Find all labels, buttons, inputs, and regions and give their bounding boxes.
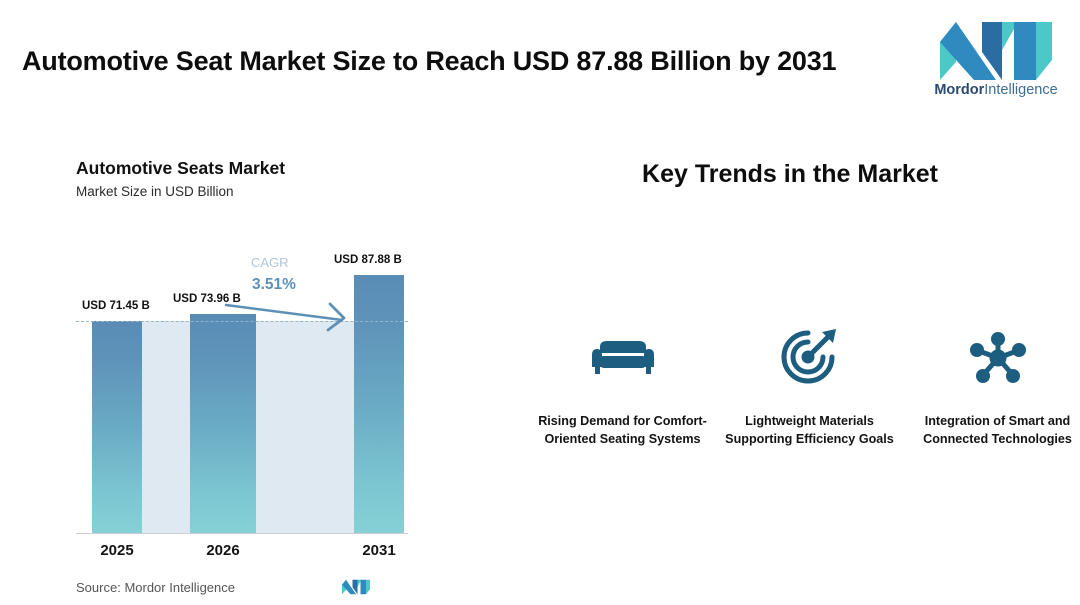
trend-caption-lightweight: Lightweight Materials Supporting Efficie… bbox=[722, 413, 897, 449]
brand-name-light: Intelligence bbox=[984, 82, 1057, 98]
chart-title: Automotive Seats Market bbox=[76, 158, 285, 179]
trend-caption-smart-tech: Integration of Smart and Connected Techn… bbox=[910, 413, 1080, 449]
trend-icon-wrap bbox=[535, 325, 710, 391]
target-arrow-icon bbox=[780, 329, 840, 387]
chart-subtitle: Market Size in USD Billion bbox=[76, 184, 234, 199]
key-trends-title: Key Trends in the Market bbox=[500, 160, 1080, 189]
network-hub-icon bbox=[970, 332, 1026, 384]
sofa-icon bbox=[590, 337, 656, 379]
brand-name-bold: Mordor bbox=[934, 82, 984, 98]
page-header: Automotive Seat Market Size to Reach USD… bbox=[0, 0, 1080, 118]
key-trends-panel: Key Trends in the Market Rising Demand f… bbox=[500, 130, 1080, 605]
chart-source-row: Source: Mordor Intelligence bbox=[76, 578, 408, 602]
trend-icon-wrap bbox=[910, 325, 1080, 391]
trend-caption-comfort: Rising Demand for Comfort-Oriented Seati… bbox=[535, 413, 710, 449]
x-axis-label-2031: 2031 bbox=[351, 542, 407, 559]
trend-card-comfort: Rising Demand for Comfort-Oriented Seati… bbox=[535, 325, 710, 449]
mordor-m-logo-icon bbox=[940, 22, 1052, 80]
source-label: Source: bbox=[76, 580, 121, 595]
x-axis-label-2026: 2026 bbox=[195, 542, 251, 559]
trend-card-lightweight: Lightweight Materials Supporting Efficie… bbox=[722, 325, 897, 449]
chart-source-text: Source: Mordor Intelligence bbox=[76, 580, 235, 595]
mordor-m-logo-icon bbox=[342, 578, 370, 596]
trend-card-smart-tech: Integration of Smart and Connected Techn… bbox=[910, 325, 1080, 449]
brand-logo: MordorIntelligence bbox=[928, 22, 1064, 106]
chart-panel: Automotive Seats Market Market Size in U… bbox=[0, 130, 500, 605]
cagr-arrow-icon bbox=[76, 250, 408, 534]
trend-icon-wrap bbox=[722, 325, 897, 391]
x-axis-label-2025: 2025 bbox=[89, 542, 145, 559]
brand-wordmark: MordorIntelligence bbox=[928, 82, 1064, 98]
bar-chart-plot: USD 71.45 B USD 73.96 B USD 87.88 B CAGR… bbox=[76, 250, 408, 534]
page-title: Automotive Seat Market Size to Reach USD… bbox=[22, 46, 836, 77]
source-name: Mordor Intelligence bbox=[124, 580, 235, 595]
